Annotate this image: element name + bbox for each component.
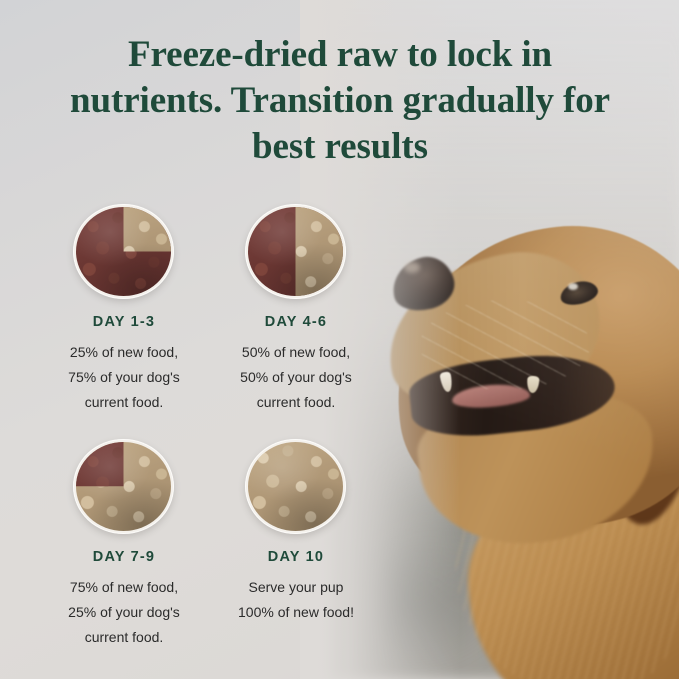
- dog-head: [374, 204, 679, 552]
- step-day-7-9: DAY 7-9 75% of new food, 25% of your dog…: [38, 433, 210, 650]
- dog-muzzle: [373, 237, 614, 428]
- bowl-day-10: [243, 433, 349, 537]
- bowl-contents: [76, 207, 171, 296]
- dog-open-mouth: [407, 347, 619, 442]
- desc-line: current food.: [210, 390, 382, 415]
- promo-poster: Freeze-dried raw to lock in nutrients. T…: [0, 0, 679, 679]
- desc-line: 75% of new food,: [38, 575, 210, 600]
- dog-ear: [588, 285, 679, 530]
- step-description: 75% of new food, 25% of your dog's curre…: [38, 575, 210, 650]
- day-label: DAY 7-9: [93, 549, 155, 565]
- step-description: 25% of new food, 75% of your dog's curre…: [38, 340, 210, 415]
- bowl-rim: [73, 439, 174, 534]
- step-row-2: DAY 7-9 75% of new food, 25% of your dog…: [38, 433, 383, 650]
- day-label: DAY 1-3: [93, 314, 155, 330]
- step-day-10: DAY 10 Serve your pup 100% of new food!: [210, 433, 382, 650]
- desc-line: 25% of your dog's: [38, 600, 210, 625]
- desc-line: Serve your pup: [210, 575, 382, 600]
- transition-steps-grid: DAY 1-3 25% of new food, 75% of your dog…: [38, 198, 383, 649]
- dog-jaw: [412, 378, 664, 556]
- dog-canine-tooth: [439, 371, 453, 393]
- dog-nose: [387, 251, 460, 316]
- dog-molar-tooth: [526, 376, 539, 394]
- bowl-rim: [73, 204, 174, 299]
- dog-neck: [459, 457, 679, 679]
- bowl-day-4-6: [243, 198, 349, 302]
- day-label: DAY 10: [268, 549, 324, 565]
- dog-fur-texture: [455, 455, 679, 679]
- desc-line: current food.: [38, 390, 210, 415]
- day-label: DAY 4-6: [265, 314, 327, 330]
- step-description: 50% of new food, 50% of your dog's curre…: [210, 340, 382, 415]
- desc-line: 75% of your dog's: [38, 365, 210, 390]
- dog-eye-highlight: [568, 283, 578, 290]
- bowl-rim: [245, 204, 346, 299]
- bowl-day-7-9: [71, 433, 177, 537]
- dog-nose-highlight: [404, 262, 420, 273]
- bowl-contents: [76, 442, 171, 531]
- step-day-4-6: DAY 4-6 50% of new food, 50% of your dog…: [210, 198, 382, 415]
- bowl-day-1-3: [71, 198, 177, 302]
- dog-eye: [558, 278, 600, 309]
- page-title: Freeze-dried raw to lock in nutrients. T…: [50, 32, 630, 170]
- bowl-contents: [248, 207, 343, 296]
- dog-tongue: [451, 382, 530, 409]
- bowl-rim: [245, 439, 346, 534]
- desc-line: 100% of new food!: [210, 600, 382, 625]
- step-day-1-3: DAY 1-3 25% of new food, 75% of your dog…: [38, 198, 210, 415]
- step-description: Serve your pup 100% of new food!: [210, 575, 382, 625]
- dog-whiskers: [420, 300, 590, 390]
- desc-line: current food.: [38, 625, 210, 650]
- desc-line: 50% of your dog's: [210, 365, 382, 390]
- photo-background-blur-lower: [380, 430, 679, 679]
- step-row-1: DAY 1-3 25% of new food, 75% of your dog…: [38, 198, 383, 415]
- desc-line: 50% of new food,: [210, 340, 382, 365]
- bowl-contents: [248, 442, 343, 531]
- new-food-kibble: [248, 442, 343, 531]
- desc-line: 25% of new food,: [38, 340, 210, 365]
